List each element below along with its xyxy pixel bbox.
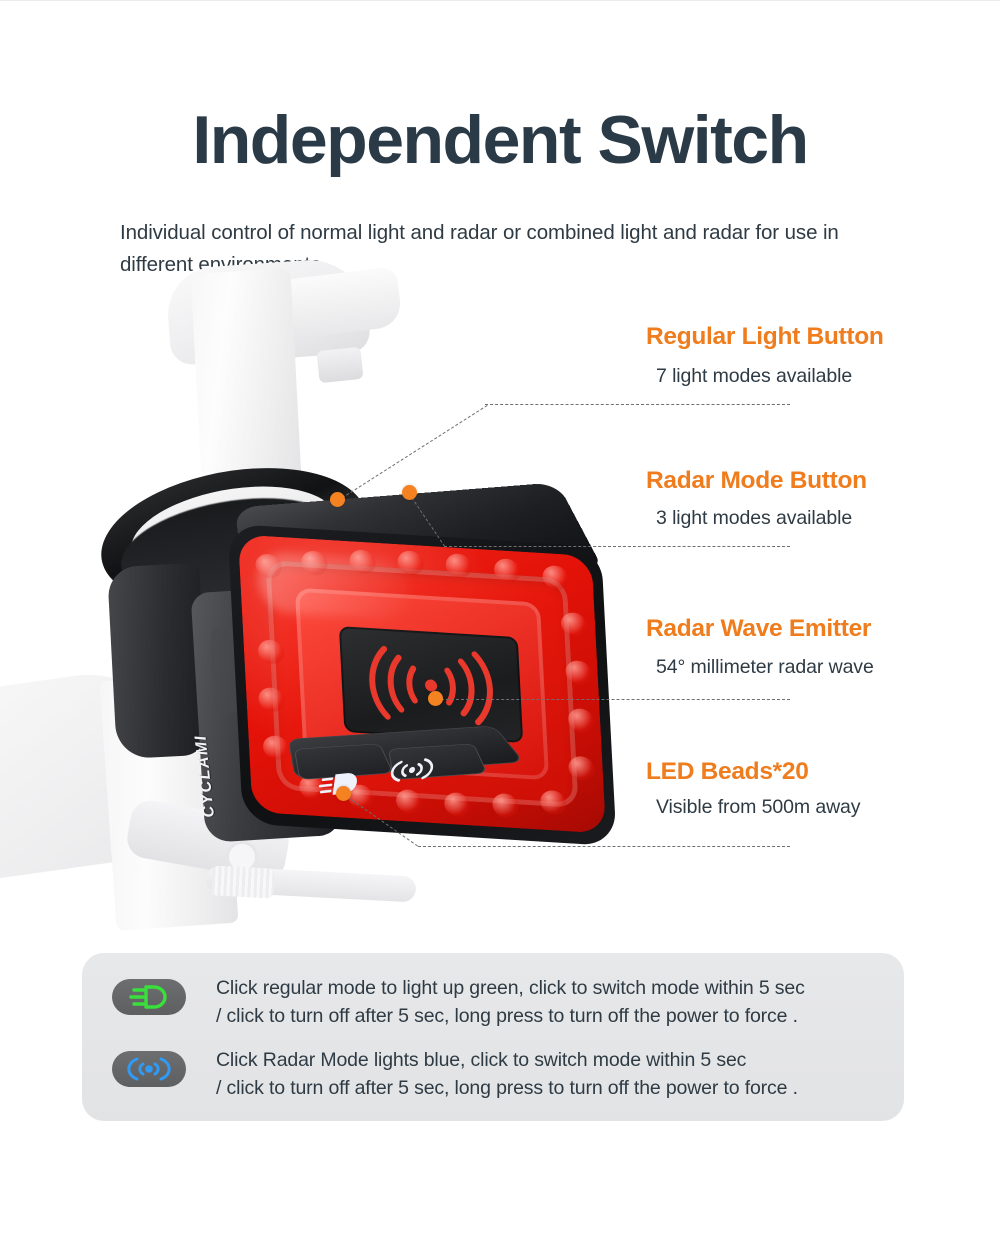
headlight-beam-icon	[126, 984, 172, 1010]
infographic-page: Independent Switch Individual control of…	[0, 0, 1000, 1256]
legend-row: Click Radar Mode lights blue, click to s…	[112, 1047, 798, 1102]
tail-light-device: CYCLAMI	[96, 449, 616, 869]
legend-badge-regular-mode	[112, 979, 186, 1015]
callout-marker-dot	[428, 691, 443, 706]
callout-title: Regular Light Button	[646, 323, 884, 351]
callout-title: Radar Mode Button	[646, 467, 867, 495]
page-title: Independent Switch	[0, 105, 1000, 176]
callout-subtitle: 54° millimeter radar wave	[656, 656, 874, 679]
lens-glare	[257, 551, 411, 620]
callout-leader-horizontal	[485, 404, 790, 405]
legend-row: Click regular mode to light up green, cl…	[112, 975, 805, 1030]
callout-marker-dot	[402, 485, 417, 500]
callout-subtitle: Visible from 500m away	[656, 796, 860, 819]
callout-marker-dot	[330, 492, 345, 507]
radar-wave-emitter-window	[339, 626, 523, 743]
callout-leader-horizontal	[436, 699, 790, 700]
legend-text: Click regular mode to light up green, cl…	[216, 975, 805, 1030]
callout-leader-horizontal	[444, 546, 790, 547]
callout-subtitle: 3 light modes available	[656, 507, 852, 530]
callout-subtitle: 7 light modes available	[656, 365, 852, 388]
saddle-rail-knurl-ghost	[211, 865, 274, 898]
callout-leader-horizontal	[418, 846, 790, 847]
legend-badge-radar-mode	[112, 1051, 186, 1087]
red-lens	[238, 534, 606, 833]
callout-marker-dot	[336, 786, 351, 801]
legend-panel: Click regular mode to light up green, cl…	[82, 953, 904, 1121]
callout-title: Radar Wave Emitter	[646, 615, 871, 643]
radar-wave-icon	[126, 1056, 172, 1082]
radar-wave-emitter-icon	[339, 626, 523, 743]
callout-title: LED Beads*20	[646, 758, 809, 786]
legend-text: Click Radar Mode lights blue, click to s…	[216, 1047, 798, 1102]
saddle-clamp-bolt-ghost	[316, 347, 363, 383]
radar-wave-icon	[388, 754, 435, 785]
